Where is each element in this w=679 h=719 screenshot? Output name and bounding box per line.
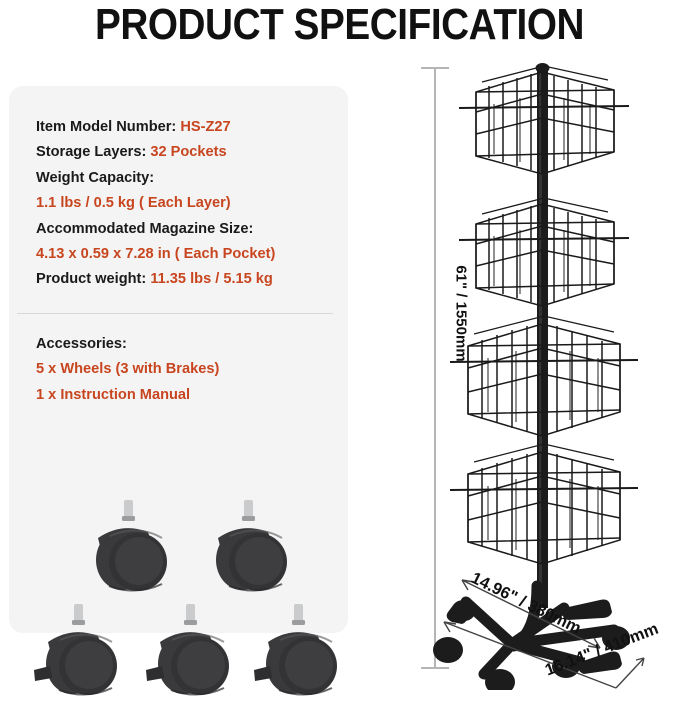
accessories-item-wheels: 5 x Wheels (3 with Brakes): [36, 357, 336, 382]
spec-value-product-weight: 11.35 lbs / 5.15 kg: [150, 271, 273, 287]
spec-label-weight-capacity: Weight Capacity:: [36, 170, 154, 186]
specification-list: Item Model Number: HS-Z27 Storage Layers…: [36, 115, 336, 293]
accessories-item-manual: 1 x Instruction Manual: [36, 383, 336, 408]
spec-row-weight-capacity: Weight Capacity:: [36, 166, 336, 191]
spec-label-layers: Storage Layers:: [36, 144, 146, 160]
spec-value-weight-capacity: 1.1 lbs / 0.5 kg ( Each Layer): [36, 191, 336, 216]
specification-card: Item Model Number: HS-Z27 Storage Layers…: [9, 86, 348, 633]
height-dimension-line: [421, 68, 449, 668]
section-divider: [17, 313, 333, 314]
accessories-heading: Accessories:: [36, 332, 336, 357]
caster-bottom-right-with-brake: [246, 602, 354, 710]
caster-top-right: [196, 498, 304, 606]
caster-bottom-center-with-brake: [138, 602, 246, 710]
caster-top-left: [76, 498, 184, 606]
spec-row-model: Item Model Number: HS-Z27: [36, 115, 336, 140]
dimension-label-height: 61" / 1550mm: [453, 249, 470, 379]
caster-bottom-left-with-brake: [26, 602, 134, 710]
spec-value-model: HS-Z27: [180, 119, 230, 135]
spec-label-magazine-size: Accommodated Magazine Size:: [36, 221, 253, 237]
spec-row-layers: Storage Layers: 32 Pockets: [36, 140, 336, 165]
spec-label-product-weight: Product weight:: [36, 271, 146, 287]
product-image: [404, 46, 679, 690]
accessories-block: Accessories: 5 x Wheels (3 with Brakes) …: [36, 332, 336, 408]
spec-label-model: Item Model Number:: [36, 119, 176, 135]
spec-row-product-weight: Product weight: 11.35 lbs / 5.15 kg: [36, 267, 336, 292]
spec-value-layers: 32 Pockets: [150, 144, 226, 160]
spec-row-magazine-size: Accommodated Magazine Size:: [36, 217, 336, 242]
page-title: PRODUCT SPECIFICATION: [41, 2, 639, 48]
spec-value-magazine-size: 4.13 x 0.59 x 7.28 in ( Each Pocket): [36, 242, 336, 267]
caster-image-group: [18, 490, 357, 719]
